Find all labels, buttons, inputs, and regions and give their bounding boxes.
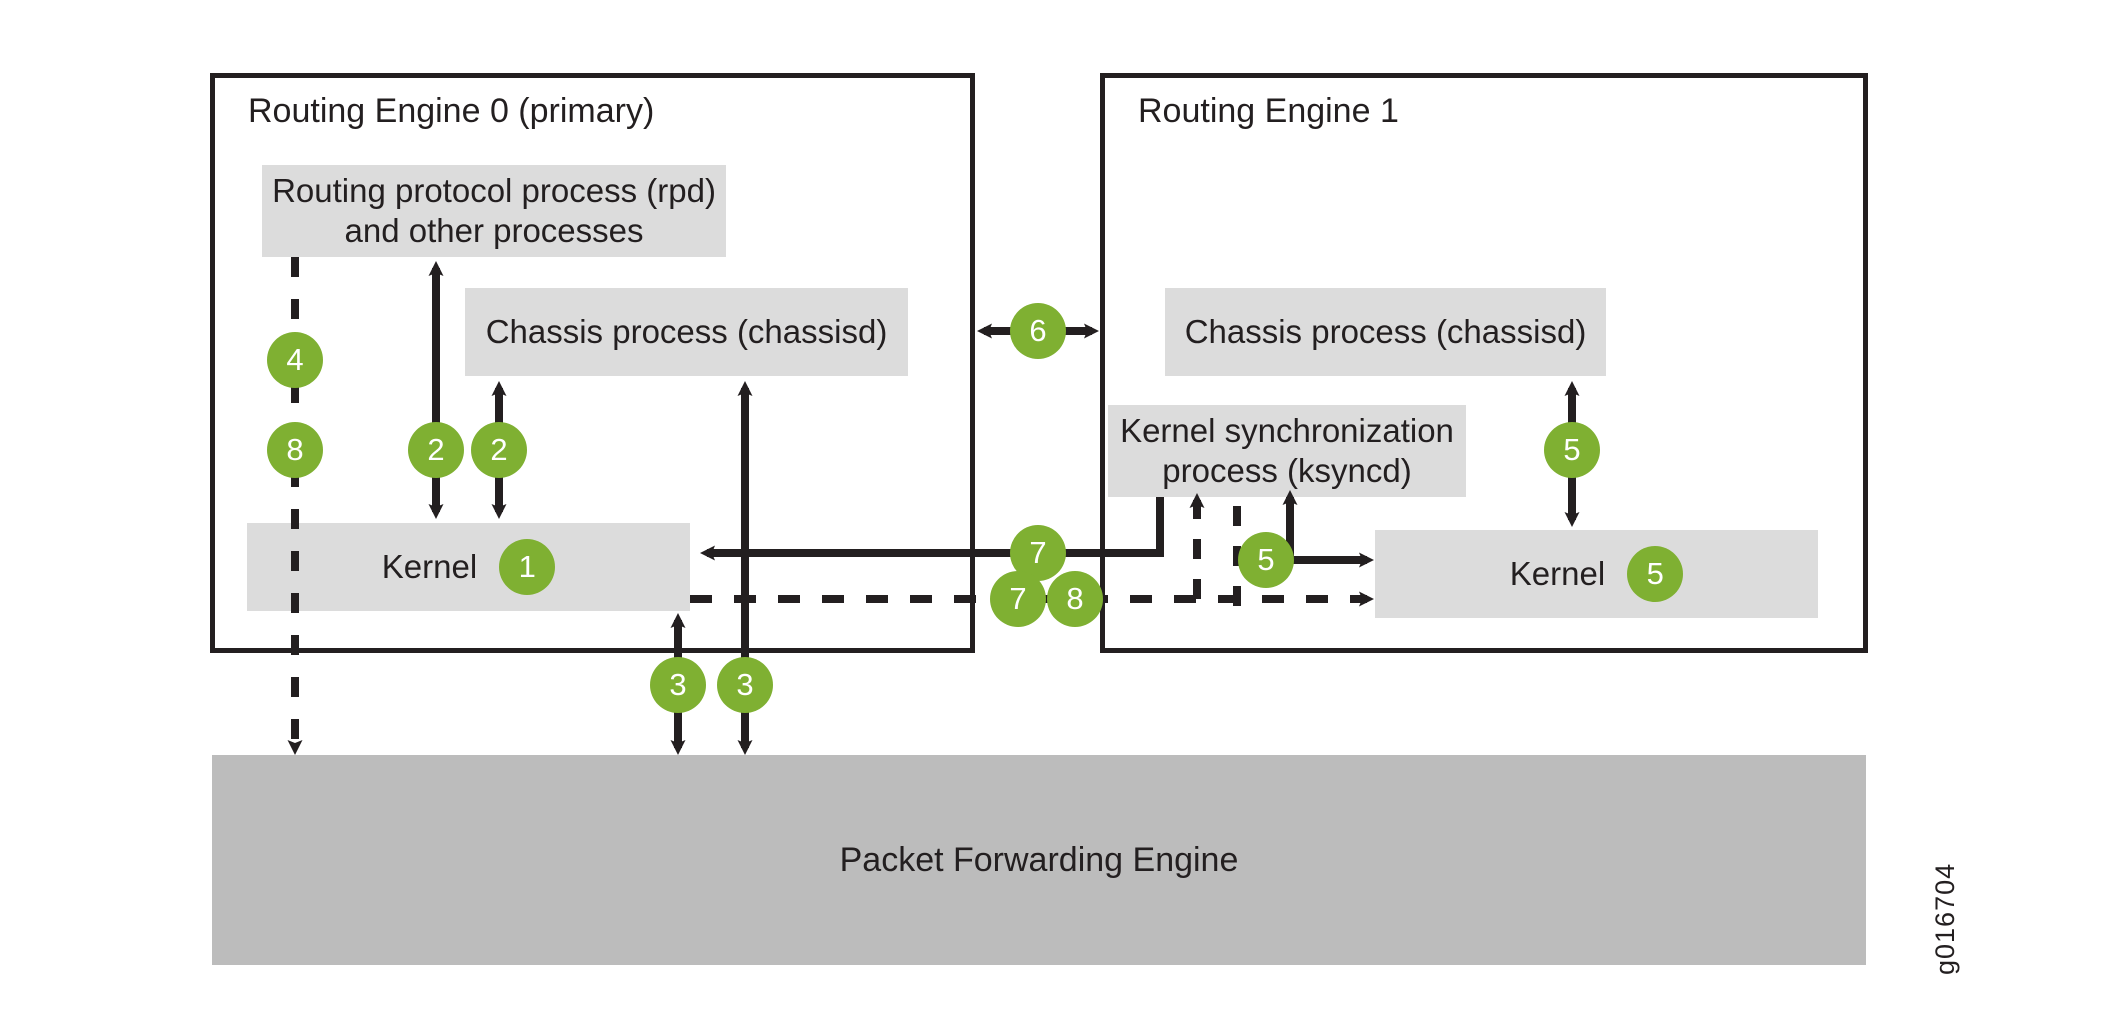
panel-title-re0: Routing Engine 0 (primary) bbox=[248, 92, 654, 130]
step-badge-5-chassisd-kernel-right: 5 bbox=[1544, 422, 1600, 478]
box-packet-forwarding-engine: Packet Forwarding Engine bbox=[212, 755, 1866, 965]
step-badge-7-dashed: 7 bbox=[990, 571, 1046, 627]
step-badge-5-kernel-right: 5 bbox=[1627, 546, 1683, 602]
step-badge-3-kernel-pfe: 3 bbox=[650, 657, 706, 713]
panel-title-re1: Routing Engine 1 bbox=[1138, 92, 1399, 130]
step-badge-2-chassisd-kernel: 2 bbox=[471, 422, 527, 478]
rpd-label-line1: Routing protocol process (rpd) bbox=[272, 171, 716, 211]
chassisd-right-label: Chassis process (chassisd) bbox=[1185, 312, 1587, 352]
kernel-right-label: Kernel bbox=[1510, 554, 1605, 594]
box-kernel-re0: Kernel 1 bbox=[247, 523, 690, 611]
step-badge-6: 6 bbox=[1010, 303, 1066, 359]
ksyncd-label-line1: Kernel synchronization bbox=[1120, 411, 1454, 451]
step-badge-2-rpd-kernel: 2 bbox=[408, 422, 464, 478]
rpd-label-line2: and other processes bbox=[344, 211, 643, 251]
box-chassis-process-re0: Chassis process (chassisd) bbox=[465, 288, 908, 376]
box-routing-protocol-process: Routing protocol process (rpd) and other… bbox=[262, 165, 726, 257]
step-badge-8-dashed: 8 bbox=[1047, 571, 1103, 627]
kernel-right-label-wrap: Kernel 5 bbox=[1510, 546, 1683, 602]
chassisd-left-label: Chassis process (chassisd) bbox=[486, 312, 888, 352]
ksyncd-label-line2: process (ksyncd) bbox=[1162, 451, 1411, 491]
kernel-left-label-wrap: Kernel 1 bbox=[382, 539, 555, 595]
step-badge-3-chassisd-pfe: 3 bbox=[717, 657, 773, 713]
box-kernel-re1: Kernel 5 bbox=[1375, 530, 1818, 618]
step-badge-1: 1 bbox=[499, 539, 555, 595]
step-badge-4: 4 bbox=[267, 332, 323, 388]
step-badge-8-rpd: 8 bbox=[267, 422, 323, 478]
pfe-label: Packet Forwarding Engine bbox=[840, 841, 1239, 880]
diagram-canvas: Routing Engine 0 (primary) Routing Engin… bbox=[0, 0, 2101, 1030]
kernel-left-label: Kernel bbox=[382, 547, 477, 587]
box-chassis-process-re1: Chassis process (chassisd) bbox=[1165, 288, 1606, 376]
step-badge-5-ksyncd: 5 bbox=[1238, 532, 1294, 588]
box-kernel-synchronization-process: Kernel synchronization process (ksyncd) bbox=[1108, 405, 1466, 497]
figure-id-label: g016704 bbox=[1930, 863, 1961, 975]
